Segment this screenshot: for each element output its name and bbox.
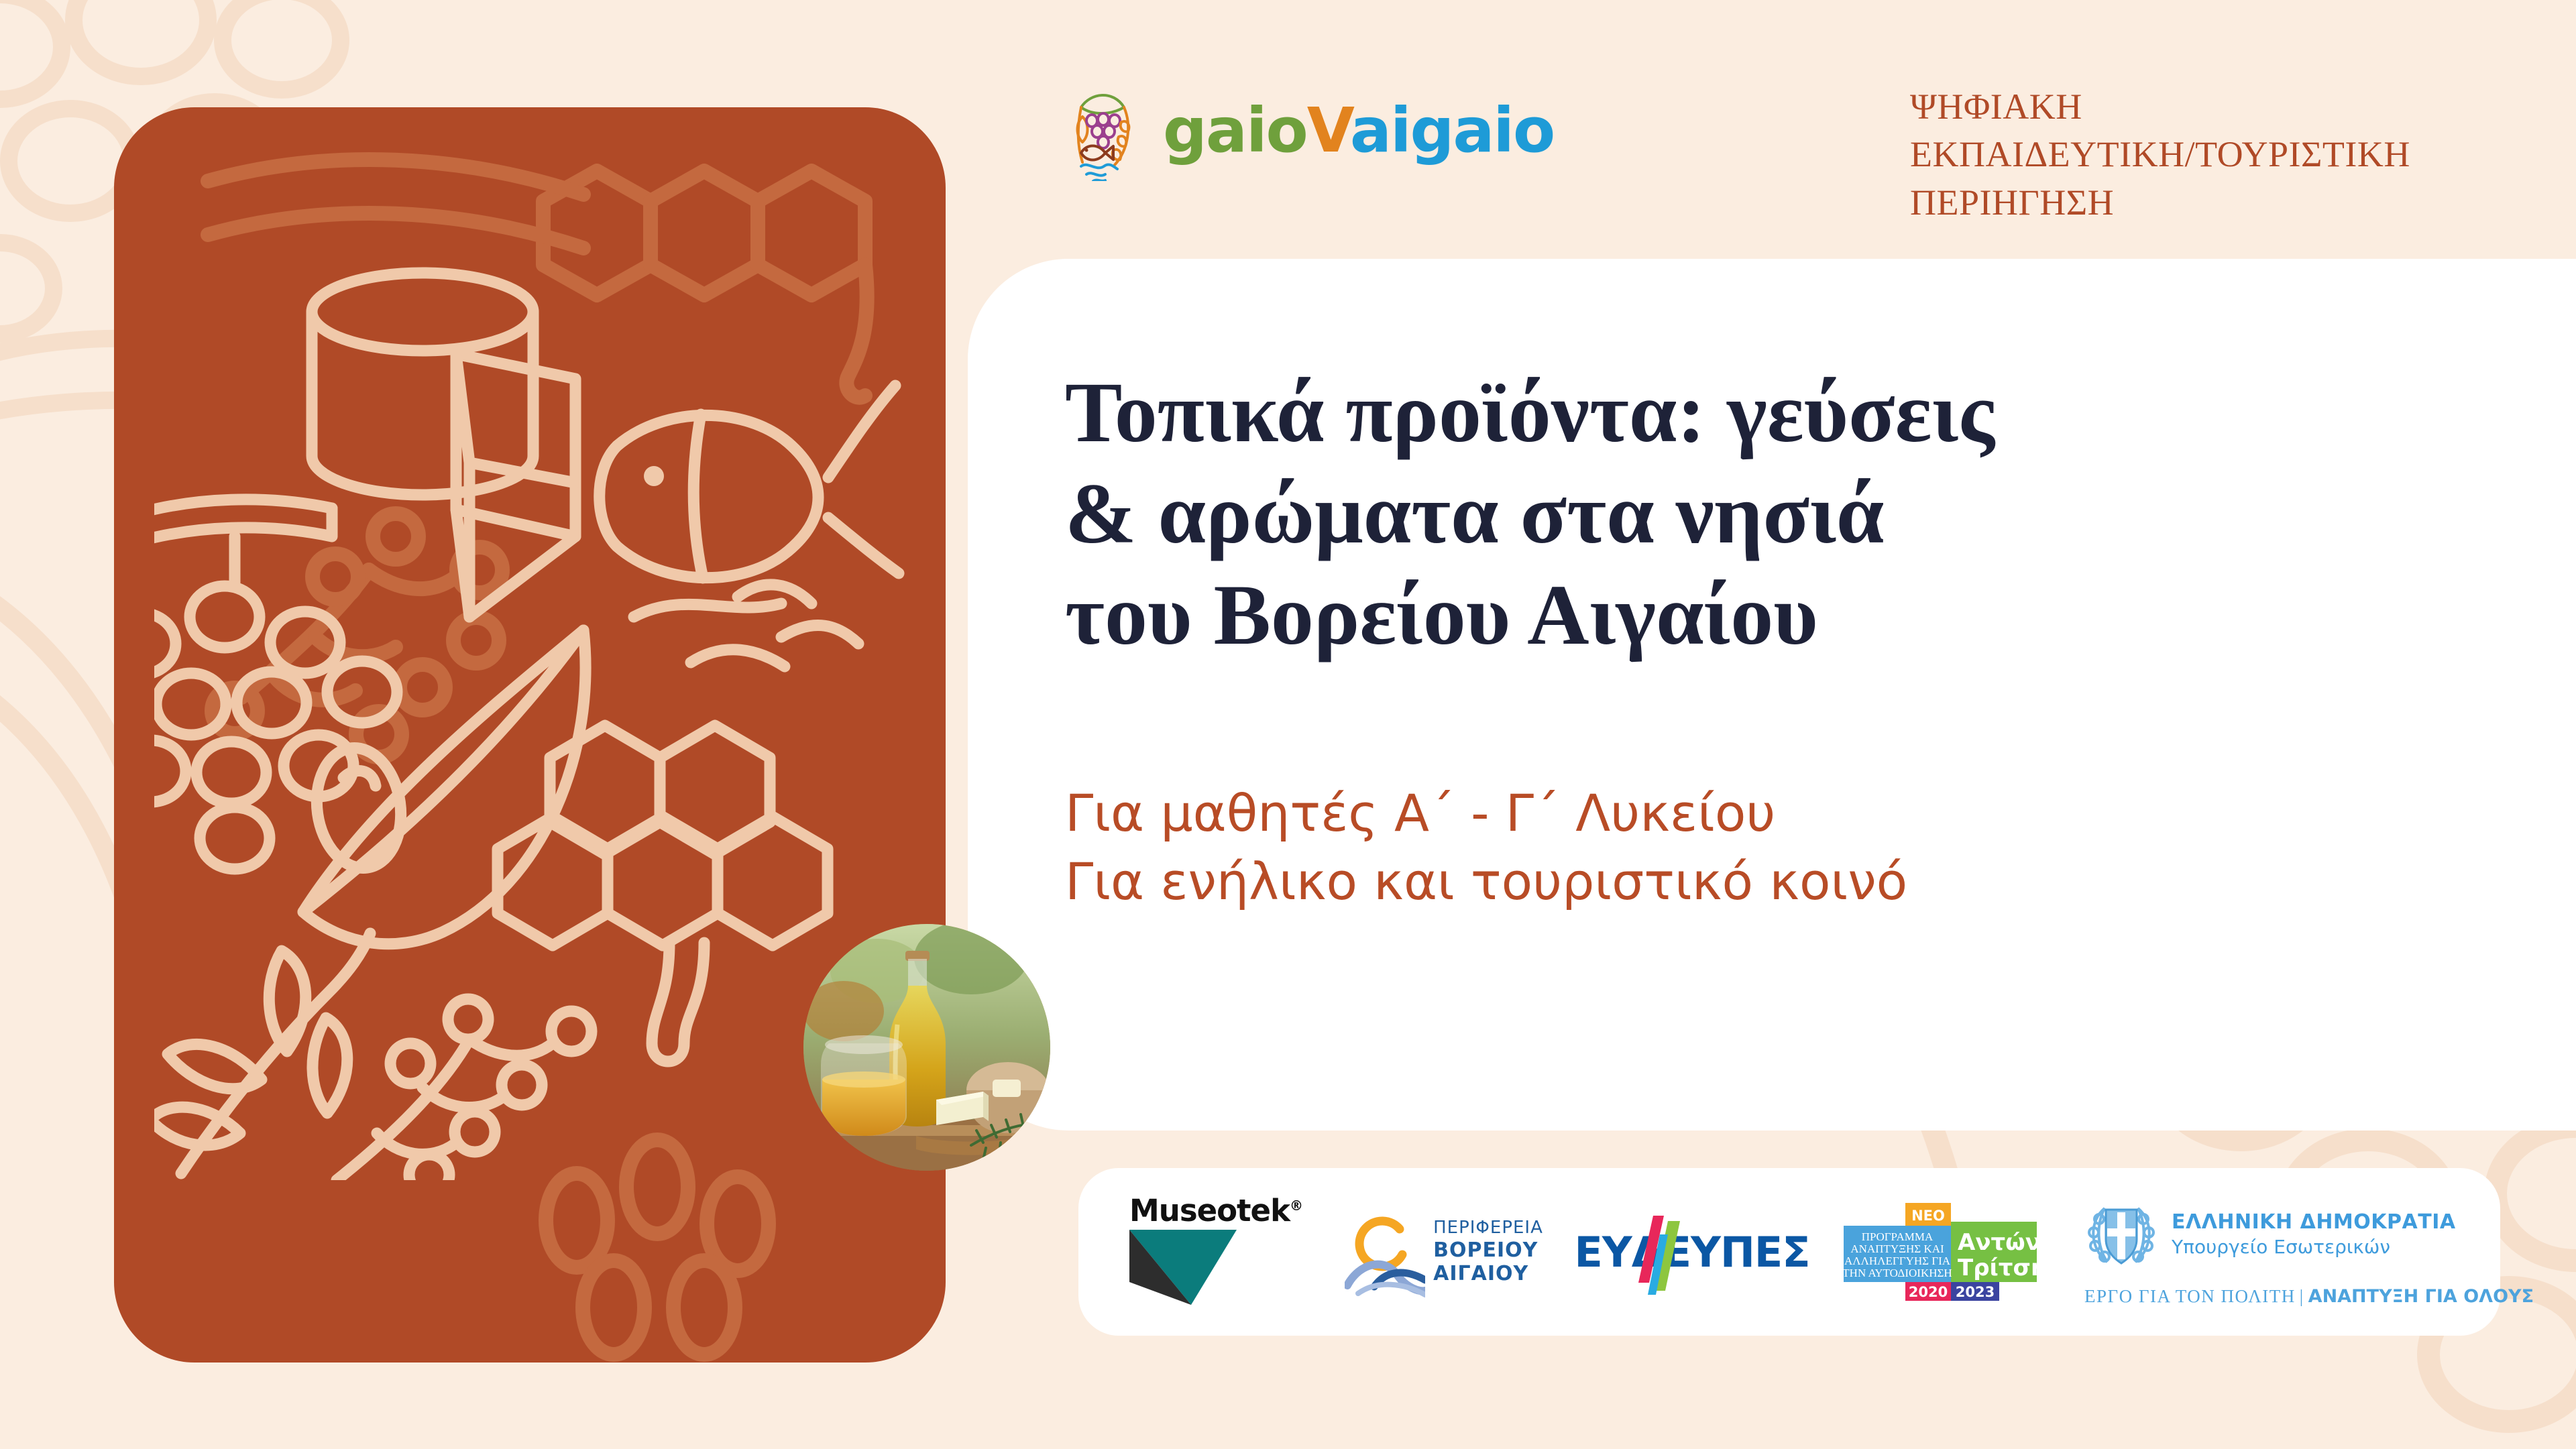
svg-text:Αντώνης: Αντώνης xyxy=(1958,1229,2041,1256)
brand-wordmark: gaioVaigaio xyxy=(1163,100,1554,162)
title-line-1: Τοπικά προϊόντα: γεύσεις xyxy=(1065,362,2473,463)
eydeypes-wordmark: ΕΥΔΕΥΠΕΣ xyxy=(1574,1228,1809,1277)
brand-wordmark-part3: aigaio xyxy=(1350,95,1554,166)
perifereia-line-1: ΠΕΡΙΦΕΡΕΙΑ xyxy=(1433,1218,1543,1238)
greek-coat-of-arms-icon xyxy=(2084,1198,2158,1271)
logo-eydeypes[interactable]: ΕΥΔΕΥΠΕΣ xyxy=(1581,1228,1803,1277)
perifereia-line-3: ΑΙΓΑΙΟΥ xyxy=(1433,1262,1543,1285)
brand-wordmark-part2: V xyxy=(1307,95,1350,166)
svg-text:ΑΝΑΠΤΥΞΗΣ ΚΑΙ: ΑΝΑΠΤΥΞΗΣ ΚΑΙ xyxy=(1850,1242,1944,1255)
gaiovaigaio-emblem-icon xyxy=(1066,80,1145,181)
svg-text:ΑΛΛΗΛΕΓΓΥΗΣ ΓΙΑ: ΑΛΛΗΛΕΓΓΥΗΣ ΓΙΑ xyxy=(1844,1255,1951,1267)
gov-tagline: ΕΡΓΟ ΓΙΑ ΤΟΝ ΠΟΛΙΤΗ|ΑΝΑΠΤΥΞΗ ΓΙΑ ΟΛΟΥΣ xyxy=(2084,1286,2534,1307)
logo-perifereia-voreiou-aigaiou[interactable]: ΠΕΡΙΦΕΡΕΙΑ ΒΟΡΕΙΟΥ ΑΙΓΑΙΟΥ xyxy=(1333,1205,1555,1299)
sponsor-logo-band: Museotek® ΠΕΡΙΦΕΡΕΙΑ ΒΟΡΕΙΟΥ ΑΙΓΑΙΟΥ xyxy=(1078,1168,2500,1336)
logo-elliniki-dimokratia[interactable]: ΕΛΛΗΝΙΚΗ ΔΗΜΟΚΡΑΤΙΑ Υπουργείο Εσωτερικών… xyxy=(2084,1198,2500,1307)
tritsis-program-logo-icon: ΝΕΟ ΠΡΟΓΡΑΜΜΑ ΑΝΑΠΤΥΞΗΣ ΚΑΙ ΑΛΛΗΛΕΓΓΥΗΣ … xyxy=(1840,1202,2041,1302)
kicker-line-1: ΨΗΦΙΑΚΗ xyxy=(1910,83,2500,131)
museotek-wordmark: Museotek® xyxy=(1129,1196,1302,1226)
kicker-line-2: ΕΚΠΑΙΔΕΥΤΙΚΗ/ΤΟΥΡΙΣΤΙΚΗ xyxy=(1910,131,2500,178)
gov-tagline-light: ΕΡΓΟ ΓΙΑ ΤΟΝ ΠΟΛΙΤΗ xyxy=(2084,1286,2296,1306)
svg-text:ΤΗΝ ΑΥΤΟΔΙΟΙΚΗΣΗ: ΤΗΝ ΑΥΤΟΔΙΟΙΚΗΣΗ xyxy=(1842,1267,1952,1279)
svg-text:ΠΡΟΓΡΑΜΜΑ: ΠΡΟΓΡΑΜΜΑ xyxy=(1862,1230,1934,1243)
subtitle-line-1: Για μαθητές Α΄ - Γ΄ Λυκείου xyxy=(1065,779,2272,848)
logo-museotek[interactable]: Museotek® xyxy=(1132,1196,1300,1308)
tritsis-badge: ΝΕΟ xyxy=(1911,1208,1945,1224)
local-products-illustration xyxy=(154,241,905,1180)
logo-antonis-tritsis[interactable]: ΝΕΟ ΠΡΟΓΡΑΜΜΑ ΑΝΑΠΤΥΞΗΣ ΚΑΙ ΑΛΛΗΛΕΓΓΥΗΣ … xyxy=(1830,1202,2051,1302)
brand-logo[interactable]: gaioVaigaio xyxy=(1066,80,1554,181)
brand-wordmark-part1: gaio xyxy=(1163,95,1307,166)
svg-text:Τρίτσης: Τρίτσης xyxy=(1958,1255,2041,1281)
program-kicker: ΨΗΦΙΑΚΗ ΕΚΠΑΙΔΕΥΤΙΚΗ/ΤΟΥΡΙΣΤΙΚΗ ΠΕΡΙΗΓΗΣ… xyxy=(1910,83,2500,227)
museotek-logo-icon xyxy=(1129,1230,1237,1305)
product-photo-illustration xyxy=(803,924,1050,1171)
svg-text:2020: 2020 xyxy=(1909,1284,1948,1300)
product-photo xyxy=(803,924,1050,1171)
museotek-registered-mark: ® xyxy=(1290,1198,1302,1214)
kicker-line-3: ΠΕΡΙΗΓΗΣΗ xyxy=(1910,179,2500,227)
museotek-name: Museotek xyxy=(1129,1193,1290,1228)
eydeypes-stripes-icon xyxy=(1638,1216,1685,1295)
perifereia-emblem-icon xyxy=(1345,1205,1425,1299)
page-title: Τοπικά προϊόντα: γεύσεις & αρώματα στα ν… xyxy=(1065,362,2473,666)
poster-canvas: gaioVaigaio ΨΗΦΙΑΚΗ ΕΚΠΑΙΔΕΥΤΙΚΗ/ΤΟΥΡΙΣΤ… xyxy=(0,0,2576,1449)
title-line-3: του Βορείου Αιγαίου xyxy=(1065,565,2473,666)
hero-card xyxy=(114,107,946,1363)
gov-line-1: ΕΛΛΗΝΙΚΗ ΔΗΜΟΚΡΑΤΙΑ xyxy=(2172,1210,2456,1235)
gov-line-2: Υπουργείο Εσωτερικών xyxy=(2172,1235,2456,1259)
title-line-2: & αρώματα στα νησιά xyxy=(1065,463,2473,565)
audience-subtitle: Για μαθητές Α΄ - Γ΄ Λυκείου Για ενήλικο … xyxy=(1065,779,2272,916)
subtitle-line-2: Για ενήλικο και τουριστικό κοινό xyxy=(1065,848,2272,916)
gov-tagline-bold: ΑΝΑΠΤΥΞΗ ΓΙΑ ΟΛΟΥΣ xyxy=(2308,1286,2534,1307)
svg-text:2023: 2023 xyxy=(1956,1284,1995,1300)
perifereia-line-2: ΒΟΡΕΙΟΥ xyxy=(1433,1238,1543,1262)
gov-tagline-separator: | xyxy=(2300,1286,2304,1306)
